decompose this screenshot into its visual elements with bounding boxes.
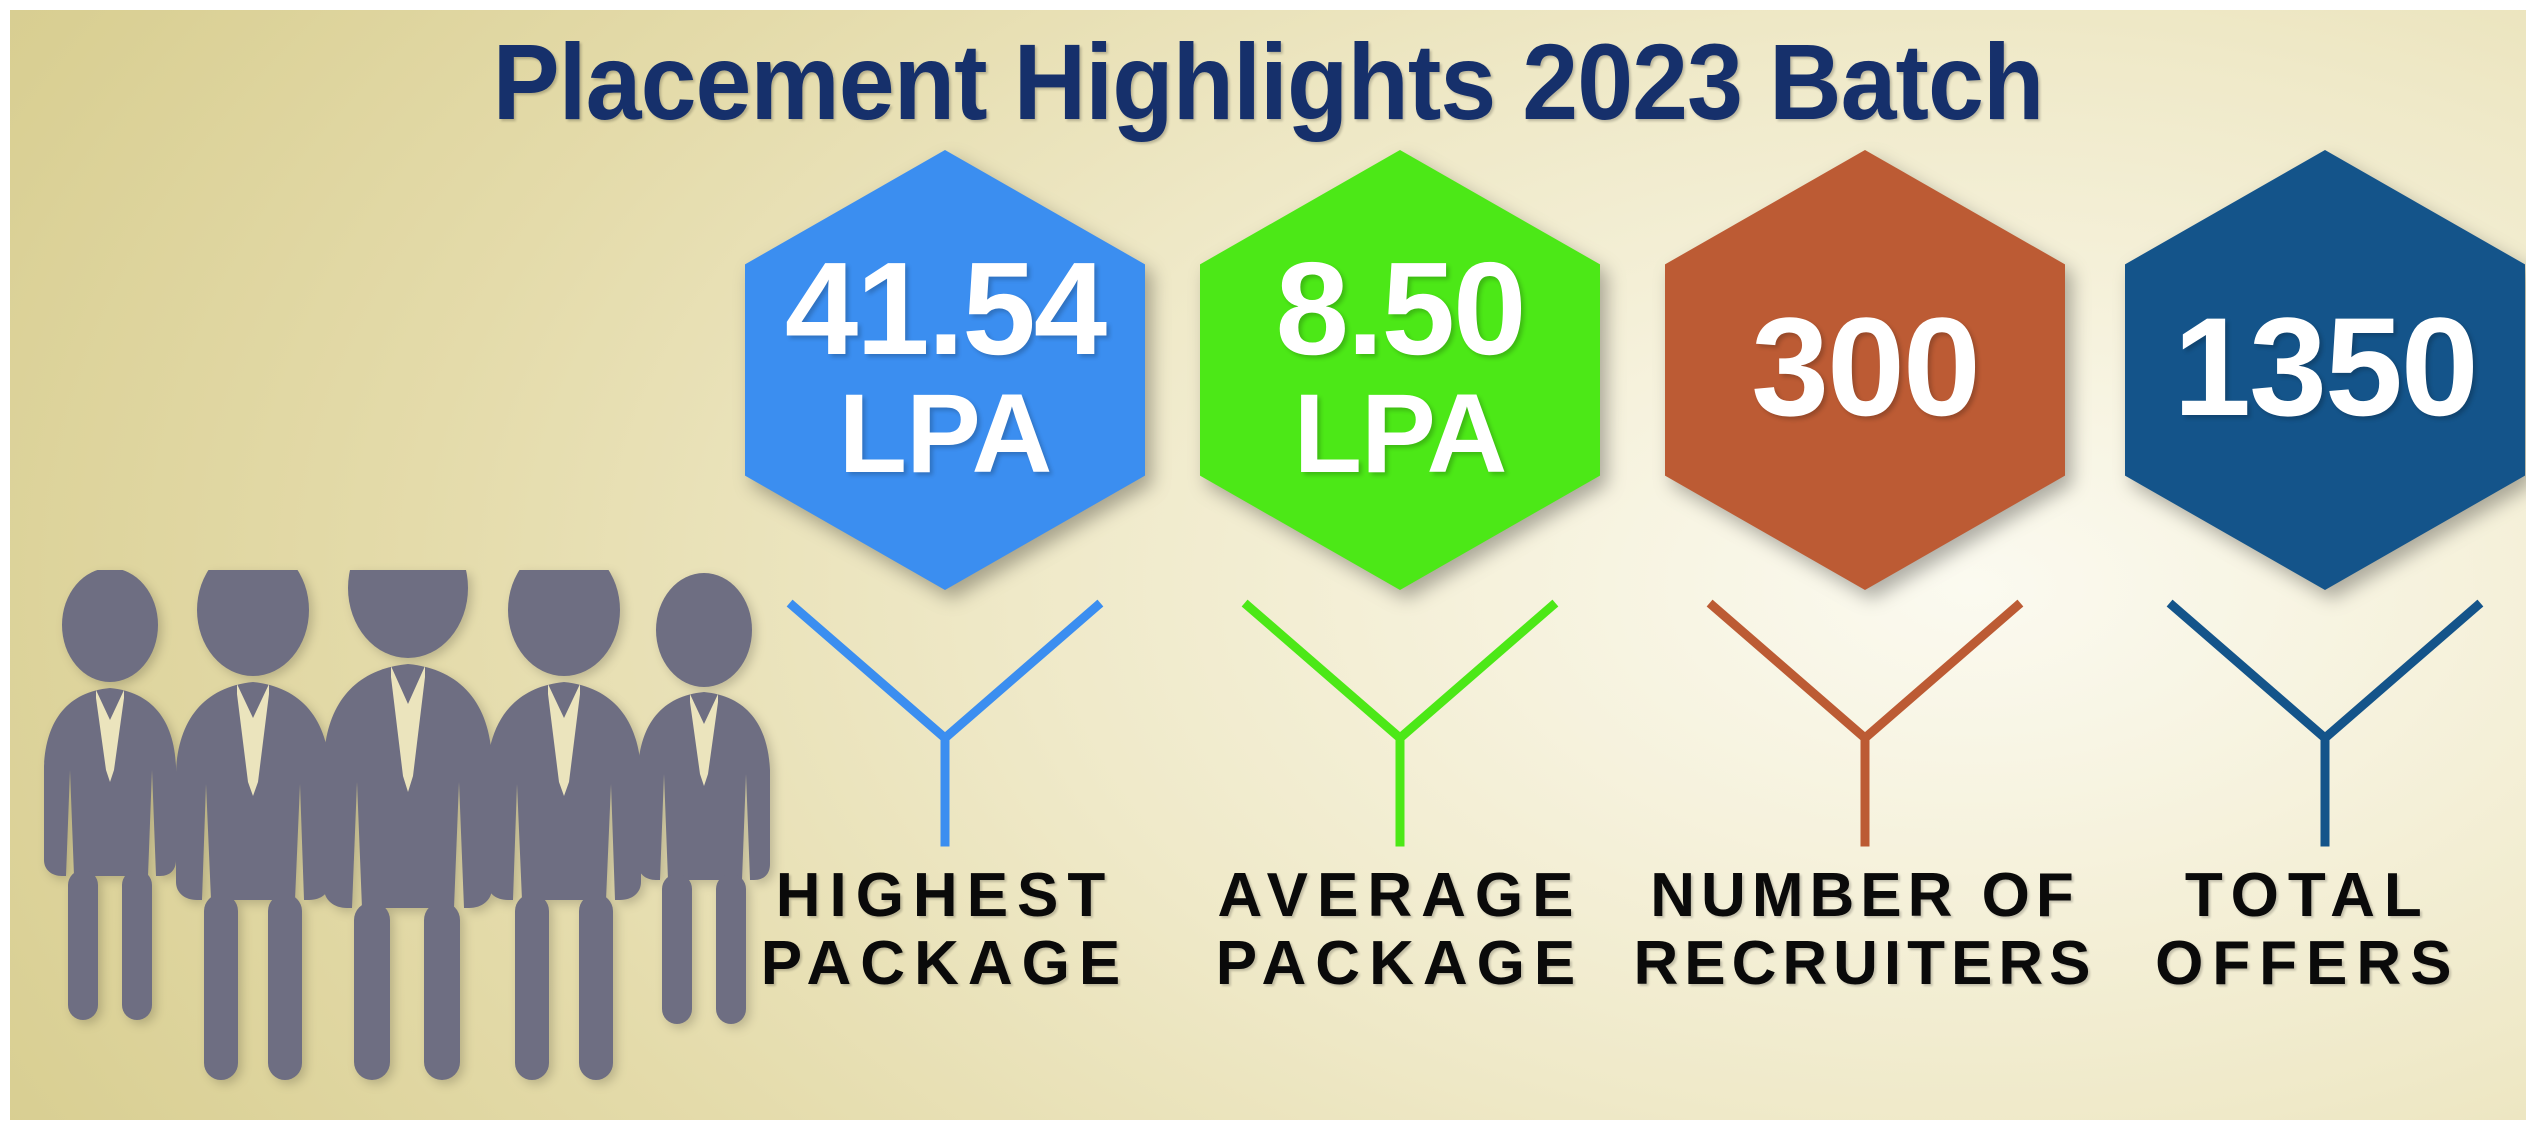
stat-caption-line1: AVERAGE (1217, 861, 1582, 930)
stat-caption: AVERAGE PACKAGE (1140, 862, 1660, 998)
infographic-poster: Placement Highlights 2023 Batch (0, 0, 2538, 1130)
y-connector-icon (2165, 598, 2485, 848)
stat-caption-line1: NUMBER OF (1650, 861, 2079, 930)
y-connector-icon (1705, 598, 2025, 848)
stat-caption-line2: OFFERS (2048, 930, 2526, 998)
hexagon-shape: 41.54 LPA (745, 150, 1145, 590)
stat-caption: HIGHEST PACKAGE (685, 862, 1205, 998)
stat-caption-line1: HIGHEST (776, 861, 1115, 930)
y-connector-icon (1240, 598, 1560, 848)
stats-row: 41.54 LPA HIGHEST PACKAGE (730, 150, 2526, 1120)
hexagon-badge: 1350 (2125, 150, 2525, 590)
stat-caption-line1: TOTAL (2185, 861, 2431, 930)
y-connector-icon (785, 598, 1105, 848)
stat-unit: LPA (1294, 378, 1507, 490)
hexagon-badge: 8.50 LPA (1200, 150, 1600, 590)
page-title: Placement Highlights 2023 Batch (98, 28, 2438, 136)
stat-value: 41.54 (785, 244, 1105, 373)
stat-card-highest-package[interactable]: 41.54 LPA HIGHEST PACKAGE (730, 150, 1160, 1120)
hexagon-shape: 1350 (2125, 150, 2525, 590)
stat-card-number-of-recruiters[interactable]: 300 NUMBER OF RECRUITERS (1650, 150, 2080, 1120)
stat-value: 8.50 (1276, 244, 1525, 373)
poster-canvas: Placement Highlights 2023 Batch (10, 10, 2526, 1120)
stat-card-average-package[interactable]: 8.50 LPA AVERAGE PACKAGE (1185, 150, 1615, 1120)
hexagon-badge: 300 (1665, 150, 2065, 590)
hexagon-shape: 300 (1665, 150, 2065, 590)
stat-value: 1350 (2173, 298, 2476, 435)
hexagon-shape: 8.50 LPA (1200, 150, 1600, 590)
business-people-group-icon (40, 570, 780, 1080)
stat-unit: LPA (839, 378, 1052, 490)
hexagon-badge: 41.54 LPA (745, 150, 1145, 590)
stat-card-total-offers[interactable]: 1350 TOTAL OFFERS (2110, 150, 2526, 1120)
stat-caption: TOTAL OFFERS (2048, 862, 2526, 998)
stat-value: 300 (1751, 298, 1979, 435)
stat-caption-line2: PACKAGE (1140, 930, 1660, 998)
stat-caption-line2: PACKAGE (685, 930, 1205, 998)
